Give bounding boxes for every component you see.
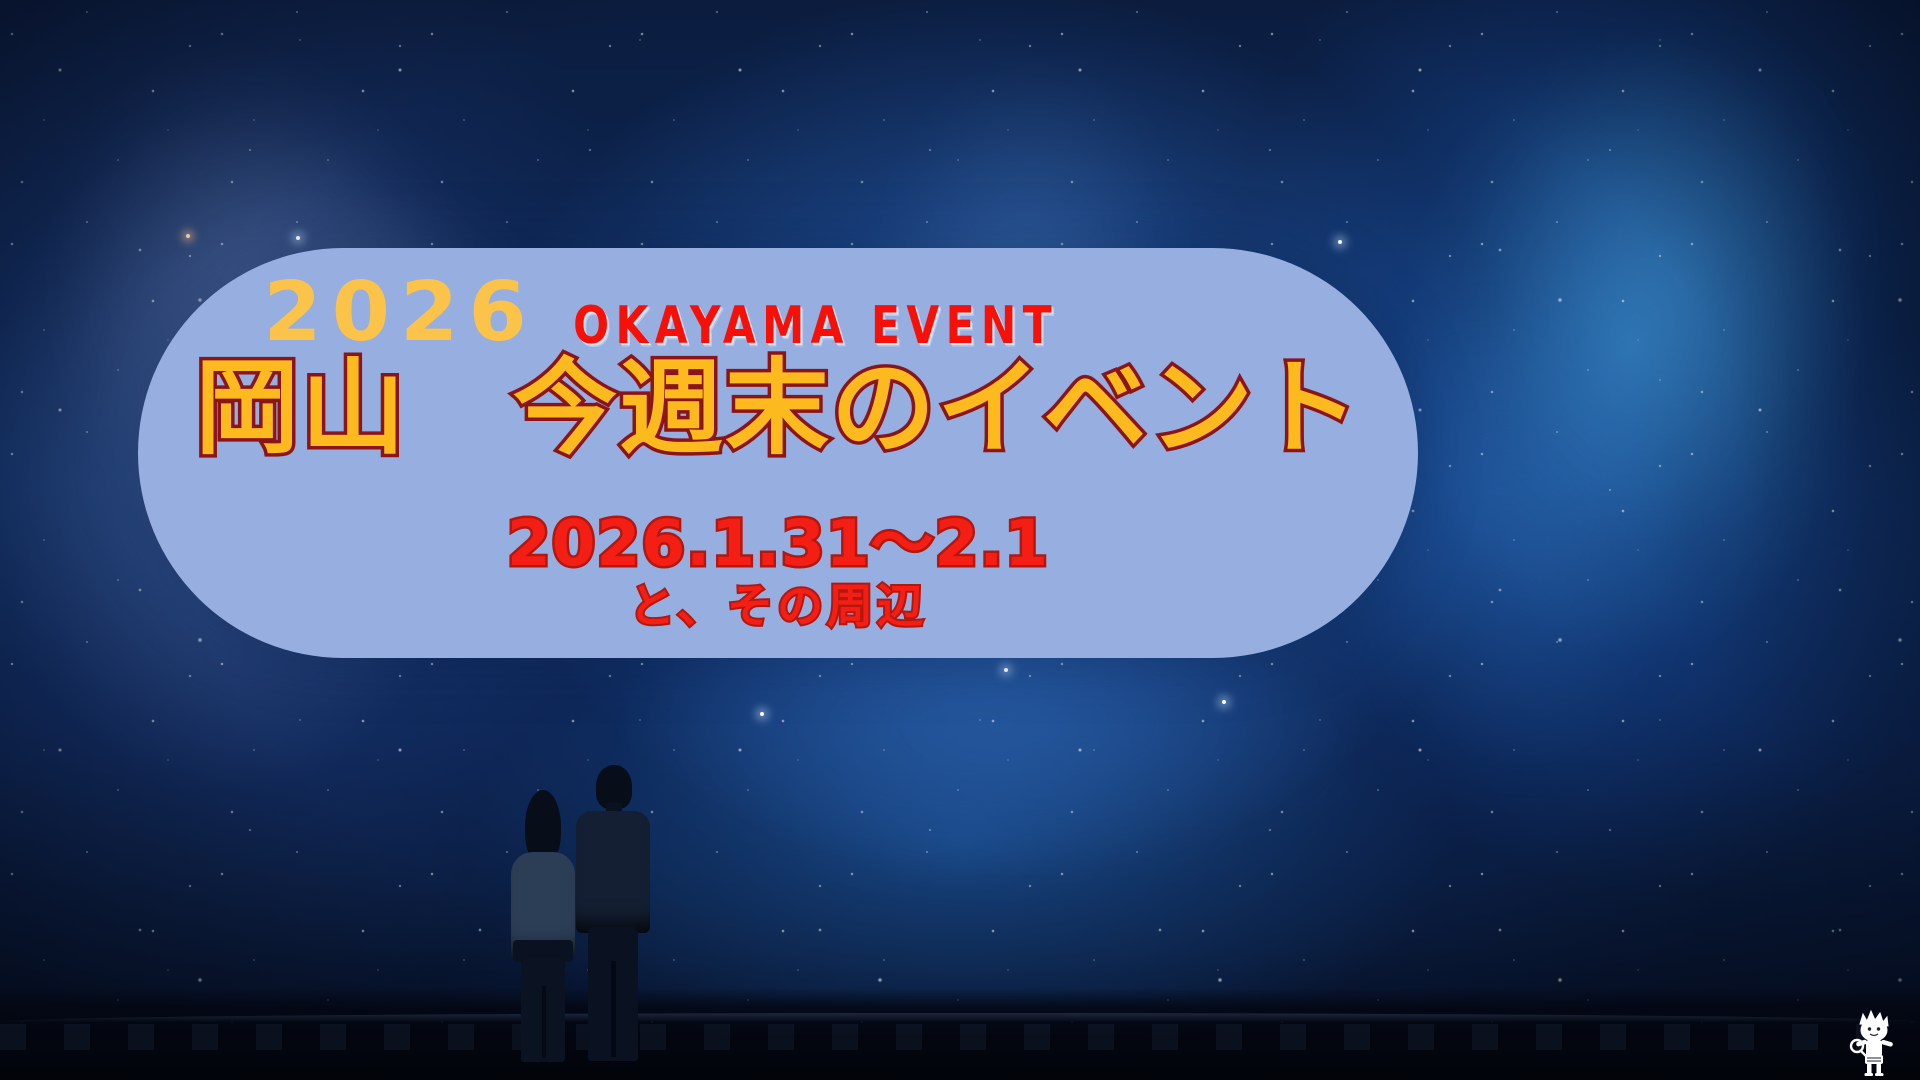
seat-row <box>0 1024 1920 1050</box>
bright-star <box>1338 240 1342 244</box>
bright-star <box>1222 700 1226 704</box>
silhouette-leg-split <box>542 986 546 1058</box>
title-panel: 2026 OKAYAMA EVENT 岡山 今週末のイベント 2026.1.31… <box>138 248 1418 658</box>
mascot-boy-with-magnifier-icon <box>1844 1002 1904 1076</box>
planetarium-floor <box>0 988 1920 1080</box>
bright-star <box>186 234 190 238</box>
silhouette-jacket <box>576 811 650 933</box>
silhouette-leg-split <box>611 961 616 1057</box>
page-title: 岡山 今週末のイベント <box>138 354 1418 463</box>
event-subtitle: と、その周辺 <box>138 570 1418 636</box>
visitor-silhouette-woman <box>505 790 581 1060</box>
year-label: 2026 <box>263 272 537 354</box>
event-english-label: OKAYAMA EVENT <box>573 299 1058 351</box>
event-poster: 2026 OKAYAMA EVENT 岡山 今週末のイベント 2026.1.31… <box>0 0 1920 1080</box>
bright-star <box>1004 668 1008 672</box>
floor-rail <box>0 1013 1920 1022</box>
title-top-row: 2026 OKAYAMA EVENT <box>266 272 1079 354</box>
bright-star <box>296 236 300 240</box>
bright-star <box>760 712 764 716</box>
visitor-silhouette-man <box>574 765 652 1060</box>
